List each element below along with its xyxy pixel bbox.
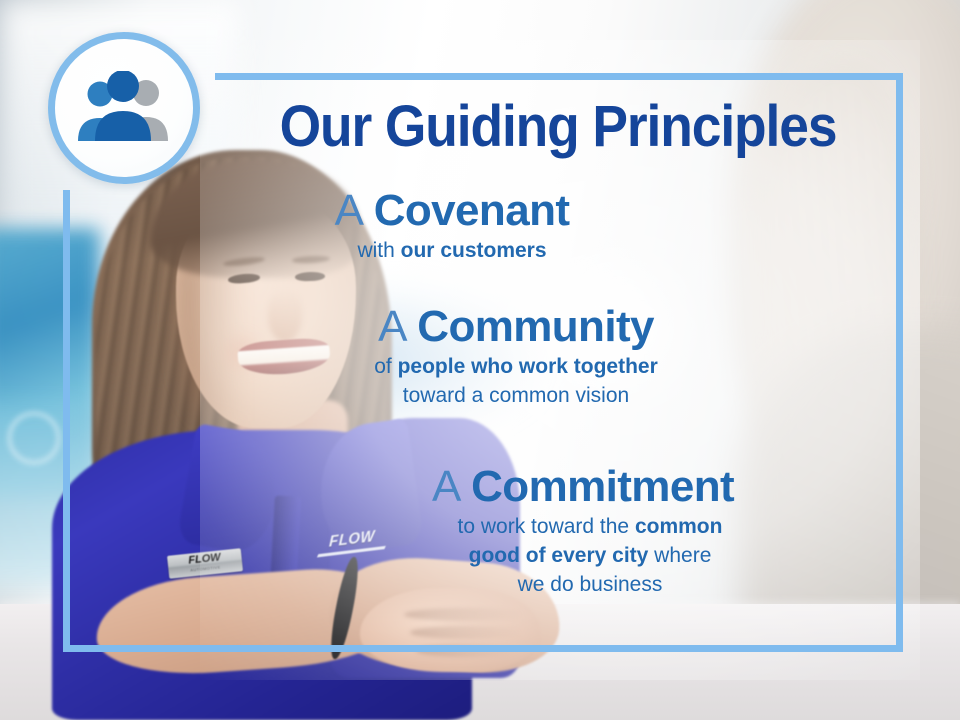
community-sub-line-2: toward a common vision <box>72 381 960 410</box>
principle-covenant-heading: A Covenant <box>0 186 904 236</box>
frame-border-top <box>215 73 903 80</box>
guiding-principles-banner: FLOW FLOW AUTOMOTIVE Ou <box>0 0 960 720</box>
principle-covenant-word: Covenant <box>374 186 570 235</box>
covenant-sub-bold: our customers <box>401 239 547 262</box>
commitment-sub-plain-1: to work toward the <box>458 515 635 538</box>
community-sub-bold: people who work together <box>398 355 658 378</box>
principle-community-heading: A Community <box>72 302 960 352</box>
principle-commitment-heading: A Commitment <box>206 462 960 512</box>
commitment-sub-line-3: we do business <box>220 570 960 599</box>
principle-covenant: A Covenant with our customers <box>0 186 960 265</box>
principle-covenant-article: A <box>335 186 374 235</box>
community-sub-plain: of <box>374 355 397 378</box>
community-sub-line-1: of people who work together <box>72 352 960 381</box>
principle-commitment-word: Commitment <box>471 462 734 511</box>
page-title: Our Guiding Principles <box>245 96 871 158</box>
blurred-vw-logo <box>8 412 60 464</box>
commitment-sub-bold-2: good of every city <box>469 544 649 567</box>
principle-commitment-subtext: to work toward the common good of every … <box>206 512 960 599</box>
commitment-sub-bold-1: common <box>635 515 723 538</box>
principle-community-article: A <box>378 302 417 351</box>
finger-line-1 <box>404 608 522 621</box>
people-group-icon <box>48 32 200 184</box>
finger-line-2 <box>410 626 522 639</box>
principle-covenant-subtext: with our customers <box>0 236 904 265</box>
principle-commitment-article: A <box>432 462 471 511</box>
commitment-sub-plain-2: where <box>648 544 711 567</box>
covenant-sub-plain: with <box>357 239 400 262</box>
commitment-sub-line-1: to work toward the common <box>220 512 960 541</box>
principle-commitment: A Commitment to work toward the common g… <box>0 462 960 599</box>
principle-community-subtext: of people who work together toward a com… <box>72 352 960 410</box>
principle-community-word: Community <box>417 302 654 351</box>
commitment-sub-line-2: good of every city where <box>220 541 960 570</box>
principle-community: A Community of people who work together … <box>0 302 960 410</box>
frame-border-bottom <box>63 645 903 652</box>
